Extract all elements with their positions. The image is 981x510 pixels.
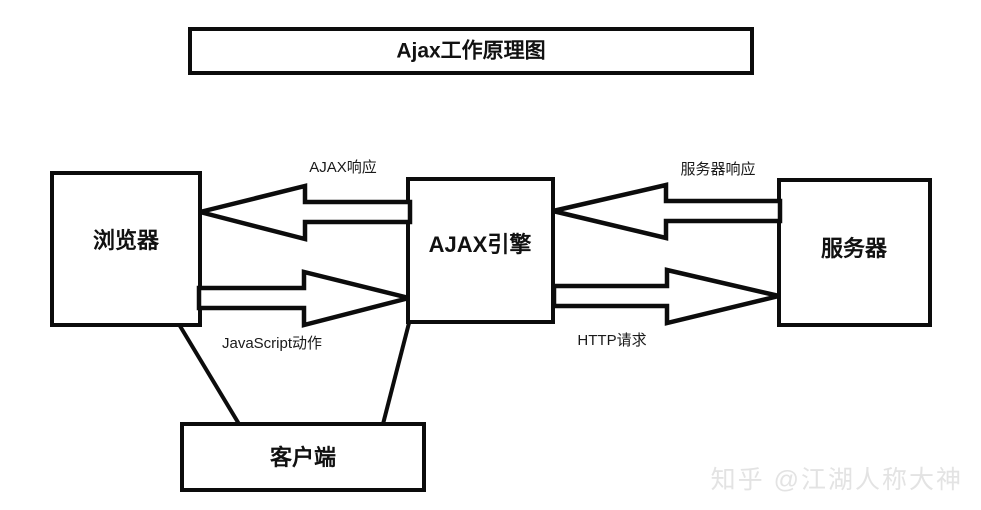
connector-ajax-engine-to-client [383, 323, 409, 424]
arrow-ajax-response: AJAX响应 [200, 158, 410, 239]
diagram-title-box: Ajax工作原理图 [190, 29, 752, 73]
node-browser-label: 浏览器 [93, 228, 160, 253]
node-ajax-engine[interactable]: AJAX引擎 [408, 179, 553, 322]
diagram-canvas: Ajax工作原理图 浏览器 AJAX引擎 服务器 客户端 AJAX响应 [0, 0, 981, 510]
ajax-response-arrow-shape [200, 186, 410, 239]
node-client[interactable]: 客户端 [182, 424, 424, 490]
edge-label-ajax-response: AJAX响应 [309, 158, 377, 176]
arrow-server-response: 服务器响应 [553, 160, 780, 238]
ajax-flow-diagram: Ajax工作原理图 浏览器 AJAX引擎 服务器 客户端 AJAX响应 [0, 0, 981, 510]
edge-label-javascript-action: JavaScript动作 [222, 335, 322, 352]
server-response-arrow-shape [553, 185, 780, 238]
node-server-label: 服务器 [821, 236, 888, 261]
edge-label-http-request: HTTP请求 [577, 332, 646, 349]
edge-label-server-response: 服务器响应 [680, 160, 755, 178]
javascript-action-arrow-shape [199, 272, 409, 325]
arrow-javascript-action: JavaScript动作 [199, 272, 409, 352]
node-client-label: 客户端 [270, 445, 336, 470]
http-request-arrow-shape [554, 270, 779, 323]
diagram-title: Ajax工作原理图 [396, 39, 545, 63]
node-server[interactable]: 服务器 [779, 180, 930, 325]
arrow-http-request: HTTP请求 [554, 270, 779, 349]
node-ajax-engine-label: AJAX引擎 [429, 232, 532, 257]
node-browser[interactable]: 浏览器 [52, 173, 200, 325]
zhihu-watermark: 知乎 @江湖人称大神 [711, 460, 963, 496]
